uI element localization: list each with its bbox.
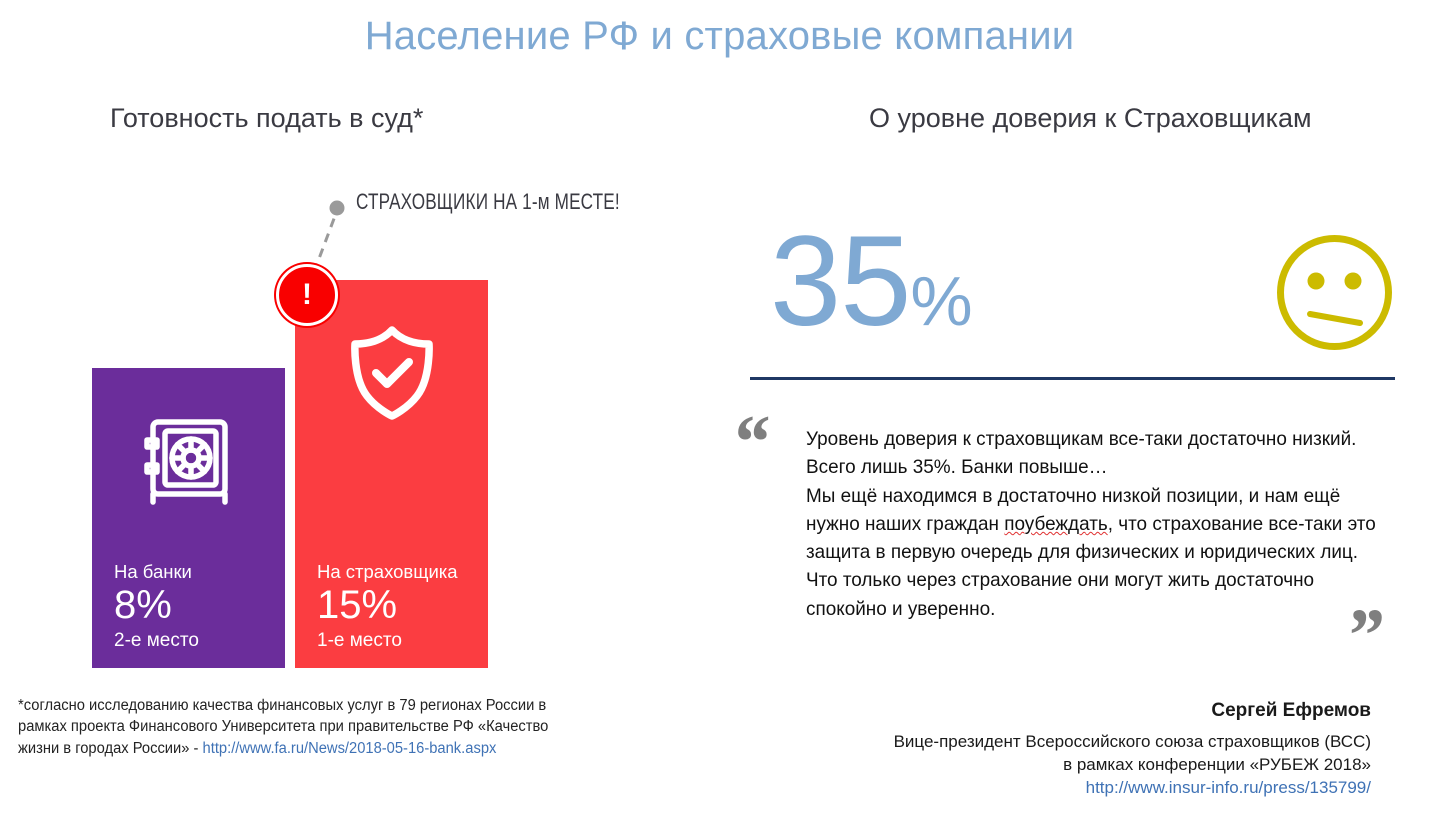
bar-insurers-rank: 1-е место [317, 630, 458, 652]
bar-banks-rank: 2-е место [114, 630, 199, 652]
footnote-link[interactable]: http://www.fa.ru/News/2018-05-16-bank.as… [203, 740, 497, 757]
bar-insurers: На страховщика 15% 1-е место [295, 280, 488, 668]
attribution-link[interactable]: http://www.insur-info.ru/press/135799/ [894, 777, 1371, 800]
quote-close-mark: ” [1345, 598, 1383, 674]
section-divider [750, 377, 1395, 380]
attribution: Сергей Ефремов Вице-президент Всероссийс… [894, 700, 1371, 800]
trust-level-value: 35 [770, 210, 910, 353]
bar-chart: На банки 8% 2-е место На страховщика 15%… [0, 0, 700, 700]
bar-banks-labels: На банки 8% 2-е место [114, 561, 199, 652]
bar-banks-category: На банки [114, 561, 199, 582]
bar-banks-value: 8% [114, 584, 199, 626]
attribution-role: Вице-президент Всероссийского союза стра… [894, 731, 1371, 754]
bank-safe-icon [141, 410, 237, 511]
footnote-line-2: рамках проекта Финансового Университета … [18, 718, 548, 735]
footnote: *согласно исследованию качества финансов… [18, 695, 626, 759]
bar-insurers-labels: На страховщика 15% 1-е место [317, 561, 458, 652]
bar-insurers-value: 15% [317, 584, 458, 626]
exclamation-icon: ! [302, 280, 312, 310]
right-section-heading: О уровне доверия к Страховщикам [869, 103, 1312, 134]
neutral-face-icon [1272, 230, 1397, 360]
bar-insurers-category: На страховщика [317, 561, 458, 582]
attribution-event: в рамках конференции «РУБЕЖ 2018» [894, 754, 1371, 777]
trust-level-stat: 35% [770, 218, 972, 346]
quote-open-mark: “ [731, 404, 769, 480]
quote-misspelled-word: поубеждать [1004, 513, 1107, 535]
shield-check-icon [341, 322, 443, 429]
bar-banks: На банки 8% 2-е место [92, 368, 285, 668]
quote-body: Уровень доверия к страховщикам все-таки … [806, 425, 1388, 623]
alert-badge: ! [276, 264, 338, 326]
footnote-line-1: *согласно исследованию качества финансов… [18, 697, 546, 714]
attribution-name: Сергей Ефремов [894, 700, 1371, 722]
quote-paragraph-1: Уровень доверия к страховщикам все-таки … [806, 428, 1356, 478]
percent-sign: % [910, 262, 971, 340]
footnote-line-3: жизни в городах России» - [18, 740, 203, 757]
callout-text: СТРАХОВЩИКИ НА 1-м МЕСТЕ! [356, 189, 620, 215]
